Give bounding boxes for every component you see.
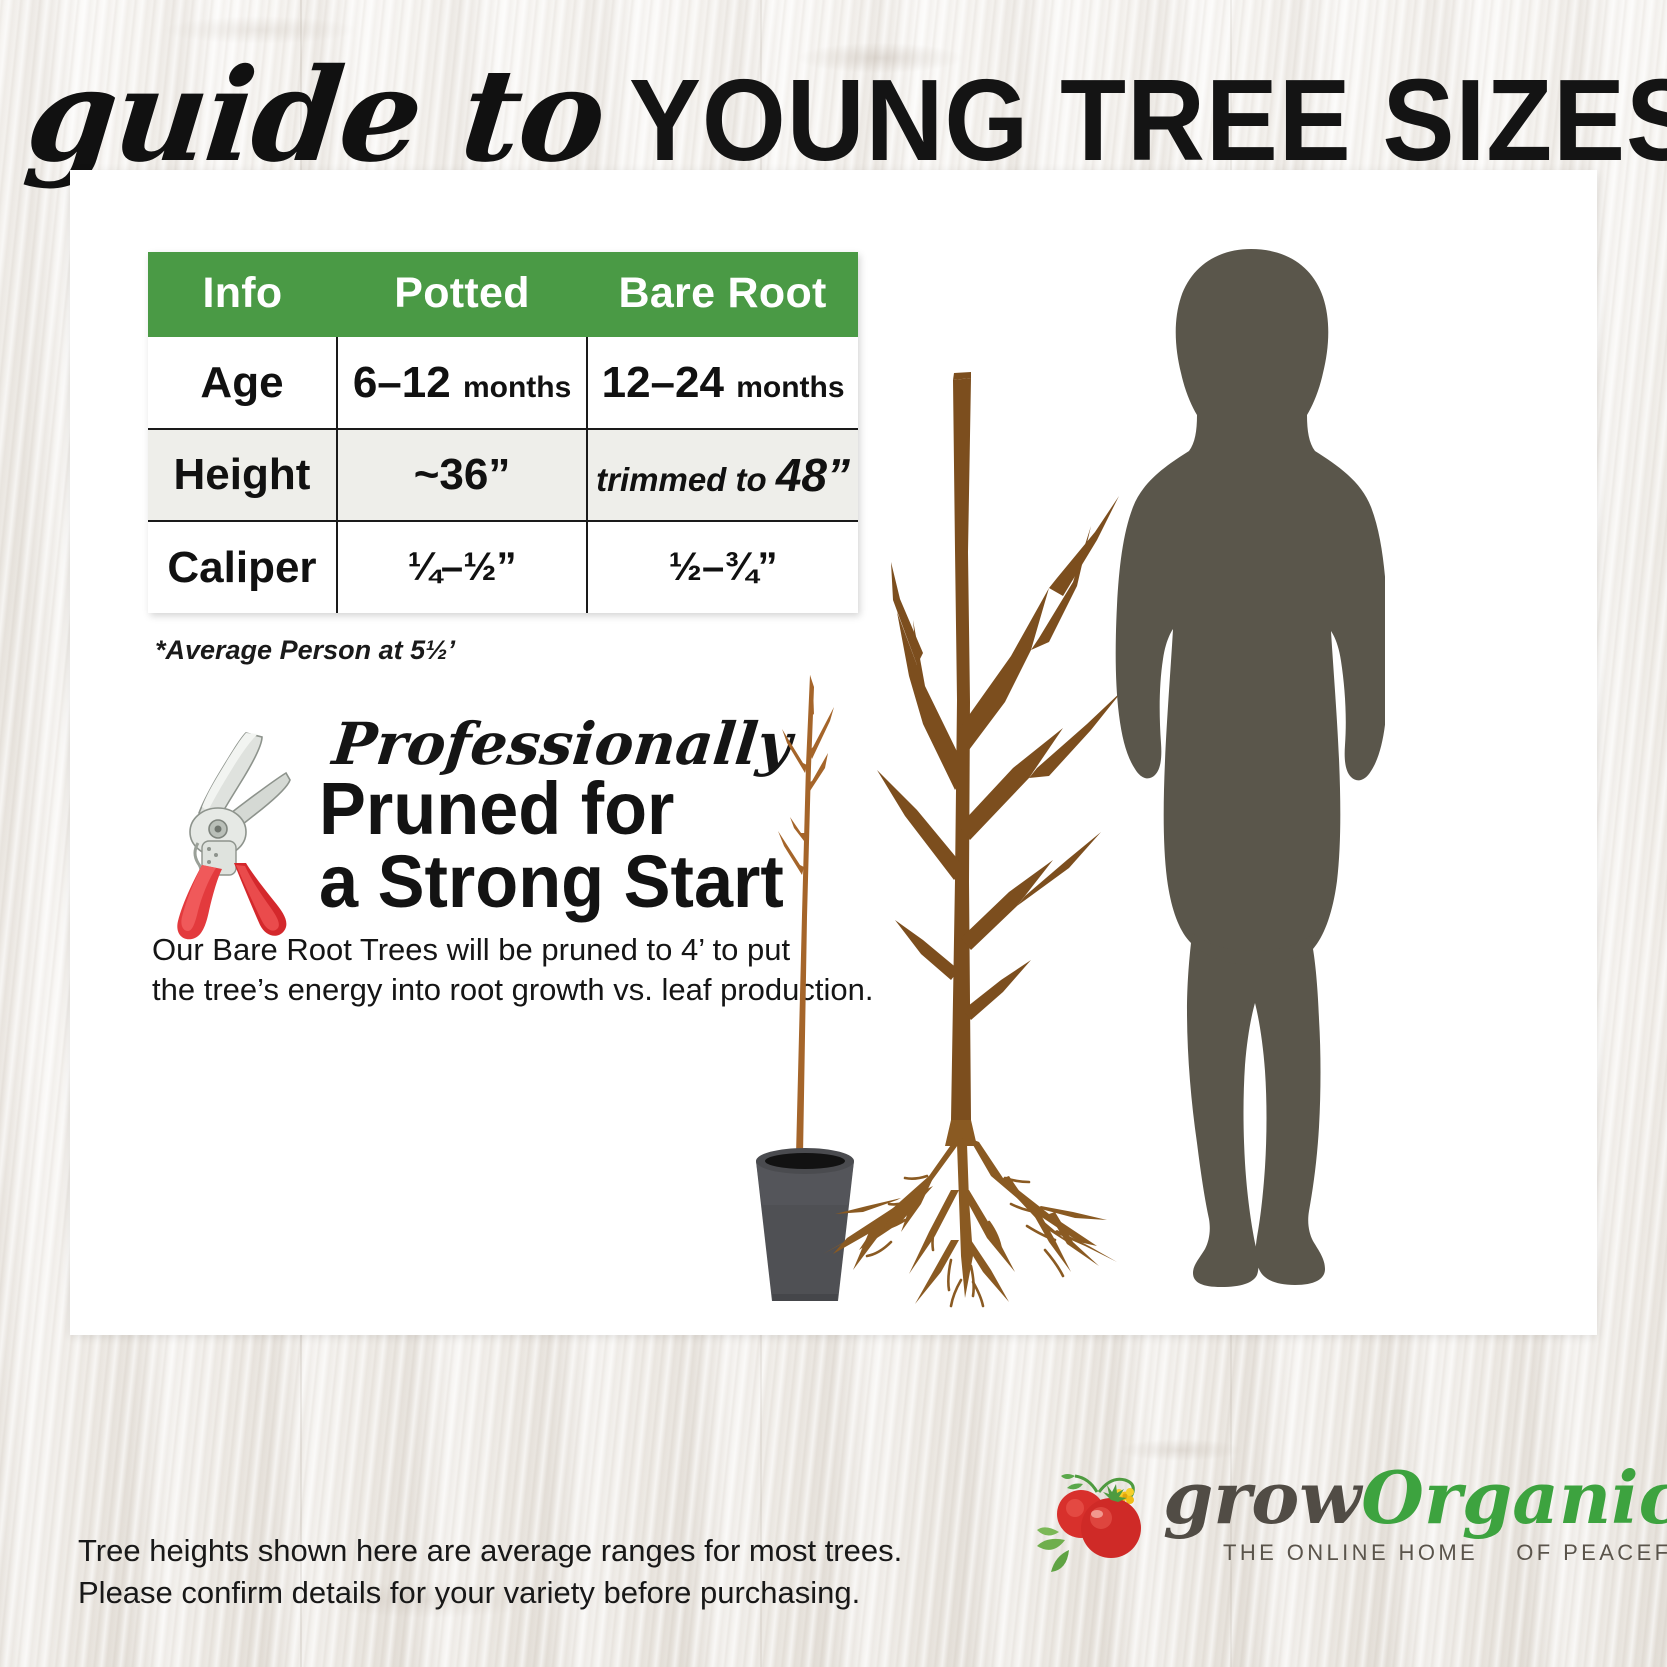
row-label-height: Height (148, 429, 337, 521)
footer-line-2: Please confirm details for your variety … (78, 1572, 902, 1614)
table-header-row: Info Potted Bare Root (148, 252, 858, 337)
page-title: A guide to YOUNG TREE SIZES (0, 52, 1667, 180)
person-silhouette (1105, 245, 1385, 1305)
footer-disclaimer: Tree heights shown here are average rang… (78, 1530, 902, 1614)
grow-organic-logo[interactable]: growOrganic.com THE ONLINE HOME OF PEACE… (1035, 1440, 1595, 1590)
cell-caliper-potted: ¼–½” (337, 521, 587, 613)
cell-age-potted: 6–12 months (337, 337, 587, 429)
table-footnote: *Average Person at 5½’ (155, 635, 455, 666)
page-title-block: YOUNG TREE SIZES (629, 62, 1667, 178)
table-row: Age 6–12 months 12–24 months (148, 337, 858, 429)
row-label-age: Age (148, 337, 337, 429)
logo-word-organic: Organic (1361, 1455, 1667, 1540)
logo-tagline-left: THE ONLINE HOME (1223, 1540, 1478, 1565)
logo-tagline: THE ONLINE HOME OF PEACEFUL VALLEY (1223, 1540, 1667, 1566)
cell-height-potted: ~36” (337, 429, 587, 521)
logo-word-grow: grow (1163, 1455, 1361, 1540)
content-card: Info Potted Bare Root Age 6–12 months 12… (70, 170, 1597, 1335)
table-header-info: Info (148, 252, 337, 337)
logo-wordmark: growOrganic.com (1163, 1462, 1667, 1534)
page-title-script: A guide to (0, 52, 610, 180)
tomato-vine-icon (1035, 1462, 1170, 1577)
bare-root-tree-illustration (805, 320, 1135, 1320)
footer-line-1: Tree heights shown here are average rang… (78, 1530, 902, 1572)
table-row: Height ~36” trimmed to 48” (148, 429, 858, 521)
logo-tagline-right: OF PEACEFUL VALLEY (1516, 1540, 1667, 1565)
row-label-caliper: Caliper (148, 521, 337, 613)
table-header-potted: Potted (337, 252, 587, 337)
